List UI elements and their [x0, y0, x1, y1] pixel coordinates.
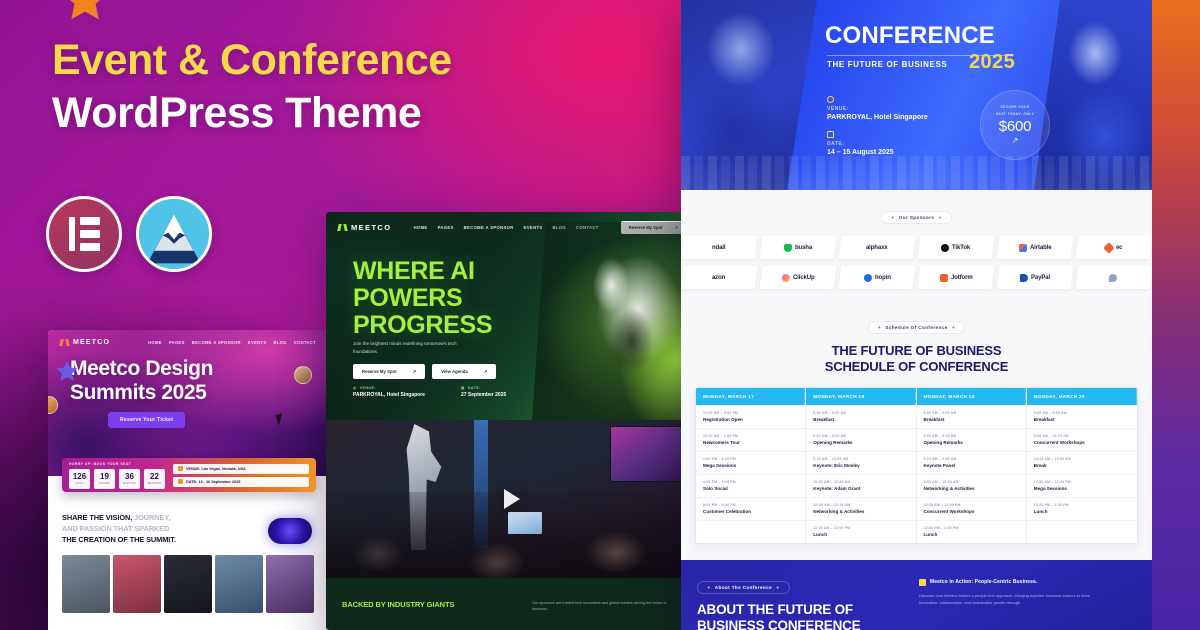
summits-venue-text: VENUE: Las Vegas, Nevada, USA: [186, 467, 246, 471]
about-feature: Meetco in Action: People-Centric Busines…: [919, 579, 1136, 587]
about-right: Meetco in Action: People-Centric Busines…: [919, 576, 1136, 630]
share-dark-2: THE CREATION OF THE SUMMIT.: [62, 535, 176, 544]
ai-headline: WHERE AI POWERS PROGRESS: [353, 258, 492, 339]
gallery-image: [62, 555, 110, 613]
ai-video-block[interactable]: [326, 420, 698, 578]
schedule-title: THE FUTURE OF BUSINESS SCHEDULE OF CONFE…: [681, 343, 1152, 375]
sponsor-logo-icon: [941, 244, 949, 252]
price-badge[interactable]: SECURE YOUR SEAT TODAY, ONLY $600 ↗: [980, 90, 1050, 160]
summits-menu-item-sponsor[interactable]: BECOME A SPONSOR: [192, 340, 241, 345]
ai-hero: MEETCO HOME PAGES BECOME A SPONSOR EVENT…: [326, 212, 698, 420]
summits-star-icon: [54, 359, 80, 385]
schedule-cell[interactable]: 10:30 AM – 1:00 PMNewcomers Tour: [696, 428, 805, 451]
conference-preview-panel[interactable]: CONFERENCE THE FUTURE OF BUSINESS 2025 V…: [681, 0, 1152, 630]
ai-venue-label: ◎VENUE:: [353, 386, 425, 390]
conference-date-value: 14 – 15 August 2025: [827, 149, 928, 156]
schedule-cell[interactable]: 12:00 PM – 1:30 PMLunch: [917, 520, 1026, 543]
elementor-badge: [46, 196, 122, 272]
ai-footer: BACKED BY INDUSTRY GIANTS Our sponsors a…: [326, 578, 698, 630]
schedule-cell-empty: [696, 520, 805, 543]
diamond-icon: ✦: [938, 215, 942, 220]
sponsors-kicker: ✦ Our Sponsors ✦: [881, 211, 952, 224]
sponsor-logo-icon: [784, 244, 792, 252]
play-icon[interactable]: [504, 489, 520, 509]
share-light-2: AND PASSION THAT SPARKED: [62, 524, 169, 533]
schedule-cell[interactable]: 5:00 PM – 8:00 PMCustomer Celebration: [696, 497, 805, 520]
sponsor-card[interactable]: ClickUp: [760, 266, 837, 289]
schedule-section: ✦ Schedule Of Conference ✦ THE FUTURE OF…: [681, 310, 1152, 560]
ai-headline-line-1: WHERE AI: [353, 258, 492, 285]
conference-subtitle: THE FUTURE OF BUSINESS: [827, 60, 947, 69]
about-feature-title: Meetco in Action: People-Centric Busines…: [930, 579, 1037, 585]
ai-logo-text: MEETCO: [351, 223, 391, 232]
summits-date-info: DATE: 14 - 16 September 2025: [173, 477, 309, 487]
countdown-unit: MINUTES: [123, 482, 136, 485]
conference-venue-value: PARKROYAL, Hotel Singapore: [827, 114, 928, 121]
schedule-column: MONDAY, MARCH 19 8:00 AM – 9:00 AMBreakf…: [917, 388, 1027, 543]
location-icon: ◎: [353, 386, 357, 390]
ai-agenda-label: View Agenda: [441, 369, 468, 374]
ai-venue-value: PARKROYAL, Hotel Singapore: [353, 392, 425, 398]
meetco-logo-icon: [60, 338, 69, 347]
sponsor-card[interactable]: [1076, 266, 1152, 289]
summits-navbar[interactable]: MEETCO HOME PAGES BECOME A SPONSOR EVENT…: [48, 330, 328, 355]
ai-cta-group[interactable]: Reserve My Spot ↗ View Agenda ↗: [353, 364, 496, 379]
schedule-column: MONDAY, MARCH 17 12:00 AM – 5:00 PMRegis…: [696, 388, 806, 543]
schedule-cell[interactable]: 9:15 AM – 10:05 AMKeynote: Eric Mosley: [806, 451, 915, 474]
ai-menu-item-home[interactable]: HOME: [414, 225, 428, 230]
conference-title: CONFERENCE: [825, 24, 995, 48]
diamond-icon: ✦: [878, 325, 882, 330]
ai-footer-text: Our sponsors are trusted tech innovators…: [532, 600, 682, 612]
star-icon: [58, 0, 112, 28]
ai-date-value: 27 September 2025: [461, 392, 506, 398]
share-light-1: JOURNEY,: [134, 513, 170, 522]
schedule-cell[interactable]: 9:55 AM – 10:45 AMNetworking & Activitie…: [917, 474, 1026, 497]
sponsor-card[interactable]: Airtable: [997, 236, 1074, 259]
gallery-image: [215, 555, 263, 613]
ai-menu-item-events[interactable]: EVENTS: [524, 225, 543, 230]
right-gradient-strip: [1152, 0, 1200, 630]
countdown-item: 19 HOURS: [94, 469, 115, 489]
schedule-column-header: MONDAY, MARCH 18: [806, 388, 915, 405]
schedule-column: MONDAY, MARCH 20 8:00 AM – 9:00 AMBreakf…: [1027, 388, 1137, 543]
sponsor-card[interactable]: azon: [681, 266, 757, 289]
ai-menu-item-sponsor[interactable]: BECOME A SPONSOR: [464, 225, 514, 230]
schedule-cell[interactable]: 9:00 AM – 9:15 AMOpening Remarks: [917, 428, 1026, 451]
summits-menu-item-blog[interactable]: BLOG: [273, 340, 286, 345]
ai-date-block: ▤DATE: 27 September 2025: [461, 386, 506, 398]
summits-venue-info: VENUE: Las Vegas, Nevada, USA: [173, 464, 309, 474]
schedule-table: MONDAY, MARCH 17 12:00 AM – 5:00 PMRegis…: [695, 387, 1138, 544]
countdown-item: 36 MINUTES: [119, 469, 140, 489]
sponsors-kicker-text: Our Sponsors: [899, 215, 934, 220]
price-label-2: SEAT TODAY, ONLY: [996, 112, 1034, 117]
ai-hero-figure: [532, 222, 698, 420]
stage-screen: [610, 426, 690, 482]
sponsor-logo-icon: [1104, 242, 1115, 253]
sponsor-card[interactable]: busha: [760, 236, 837, 259]
summits-info-list: VENUE: Las Vegas, Nevada, USA DATE: 14 -…: [173, 464, 309, 487]
gallery-image: [266, 555, 314, 613]
sponsor-card[interactable]: Jotform: [918, 266, 995, 289]
sponsors-row: ndall busha alphaxx TikTok Airtable ec: [681, 236, 1152, 259]
sponsor-logo-icon: [1019, 244, 1027, 252]
schedule-title-line-1: THE FUTURE OF BUSINESS: [832, 343, 1002, 358]
schedule-kicker-text: Schedule Of Conference: [885, 325, 947, 330]
schedule-cell[interactable]: 12:00 AM – 5:00 PMRegistration Open: [696, 405, 805, 428]
sponsor-card[interactable]: TikTok: [918, 236, 995, 259]
conference-hero: CONFERENCE THE FUTURE OF BUSINESS 2025 V…: [681, 0, 1152, 190]
price-label-1: SECURE YOUR: [1000, 105, 1029, 110]
promo-canvas: Event & Conference WordPress Theme: [0, 0, 1200, 630]
countdown-list: 126 DAYS 19 HOURS 36 MINUTES 22 SECONDS: [69, 469, 165, 489]
schedule-kicker: ✦ Schedule Of Conference ✦: [868, 321, 966, 334]
arrow-up-right-icon: ↗: [413, 369, 417, 375]
schedule-column-header: MONDAY, MARCH 17: [696, 388, 805, 405]
sponsor-logo-icon: [940, 274, 948, 282]
summits-preview-panel[interactable]: MEETCO HOME PAGES BECOME A SPONSOR EVENT…: [48, 330, 328, 630]
ai-venue-block: ◎VENUE: PARKROYAL, Hotel Singapore: [353, 386, 425, 398]
schedule-cell[interactable]: 4:00 PM – 5:00 PMSolo Social: [696, 474, 805, 497]
conference-year: 2025: [969, 52, 1015, 72]
ai-date-label: ▤DATE:: [461, 386, 506, 390]
diamond-icon: ✦: [952, 325, 956, 330]
ai-headline-line-2: POWERS: [353, 285, 492, 312]
meetco-logo-icon: [338, 223, 347, 232]
sponsor-card[interactable]: alphaxx: [839, 236, 916, 259]
ai-footer-title: BACKED BY INDUSTRY GIANTS: [342, 600, 454, 609]
arrow-up-right-icon: ↗: [484, 369, 488, 375]
about-feature-text: Discover how Meetco fosters a people-fir…: [919, 592, 1109, 606]
schedule-cell[interactable]: 10:50 AM – 11:15 AMNetworking & Activiti…: [806, 497, 915, 520]
schedule-cell[interactable]: 8:00 AM – 9:00 AMBreakfast: [1027, 405, 1137, 428]
summits-gallery: [48, 545, 328, 613]
summits-title-line-1: Meetco Design: [70, 357, 328, 381]
summits-countdown-bar: HURRY UP! BOOK YOUR SEAT 126 DAYS 19 HOU…: [62, 458, 316, 492]
summits-hero: MEETCO HOME PAGES BECOME A SPONSOR EVENT…: [48, 330, 328, 476]
countdown-value: 126: [73, 473, 86, 481]
countdown-unit: DAYS: [76, 482, 84, 485]
schedule-cell-empty: [1027, 520, 1137, 543]
schedule-title-line-2: SCHEDULE OF CONFERENCE: [825, 359, 1008, 374]
summits-logo[interactable]: MEETCO: [60, 338, 110, 347]
ai-preview-panel[interactable]: MEETCO HOME PAGES BECOME A SPONSOR EVENT…: [326, 212, 698, 630]
summits-menu-item-pages[interactable]: PAGES: [169, 340, 185, 345]
schedule-column-header: MONDAY, MARCH 20: [1027, 388, 1137, 405]
schedule-cell[interactable]: 10:15 AM – 10:50 AMBreak: [1027, 451, 1137, 474]
headline-line-2: WordPress Theme: [52, 91, 652, 136]
schedule-cell[interactable]: 11:15 AM – 12:00 PMLunch: [806, 520, 915, 543]
schedule-cell[interactable]: 1:00 PM – 2:00 PMMega Sessions: [696, 451, 805, 474]
ai-meta: ◎VENUE: PARKROYAL, Hotel Singapore ▤DATE…: [353, 386, 506, 398]
schedule-cell[interactable]: 8:00 AM – 9:00 AMBreakfast: [917, 405, 1026, 428]
schedule-cell[interactable]: 9:15 AM – 9:55 AMKeynote Panel: [917, 451, 1026, 474]
ai-reserve-button[interactable]: Reserve My Spot ↗: [353, 364, 425, 379]
countdown-value: 19: [100, 473, 109, 481]
sponsor-logo-icon: [864, 274, 872, 282]
share-dark-1: SHARE THE VISION,: [62, 513, 132, 522]
conference-meta: VENUE: PARKROYAL, Hotel Singapore DATE: …: [827, 96, 928, 166]
laptop: [508, 512, 542, 534]
avatar: [294, 366, 312, 384]
countdown-item: 126 DAYS: [69, 469, 90, 489]
ai-subtitle: Join the brightest minds redefining tomo…: [353, 340, 473, 356]
about-title: ABOUT THE FUTURE OF BUSINESS CONFERENCE: [697, 602, 901, 630]
diamond-icon: ✦: [707, 585, 711, 590]
gallery-image: [164, 555, 212, 613]
summits-menu[interactable]: HOME PAGES BECOME A SPONSOR EVENTS BLOG …: [148, 340, 316, 345]
conference-venue-block: VENUE: PARKROYAL, Hotel Singapore: [827, 96, 928, 121]
about-kicker-text: About The Conference: [715, 585, 772, 590]
summits-menu-item-contact[interactable]: CONTACT: [294, 340, 316, 345]
sponsor-card[interactable]: hopin: [839, 266, 916, 289]
calendar-icon: [178, 479, 183, 484]
countdown-unit: HOURS: [99, 482, 109, 485]
location-icon: [827, 96, 834, 103]
conference-date-block: DATE: 14 – 15 August 2025: [827, 131, 928, 156]
summits-cta-button[interactable]: Reserve Your Ticket: [108, 412, 185, 428]
sponsors-rows: ndall busha alphaxx TikTok Airtable ec a…: [681, 236, 1152, 289]
mountain-badge: [136, 196, 212, 272]
countdown-item: 22 SECONDS: [144, 469, 165, 489]
schedule-cell[interactable]: 10:50 AM – 12:20 PMMega Sessions: [1027, 474, 1137, 497]
cursor-icon: [275, 413, 285, 426]
sponsor-logo-icon: [782, 274, 790, 282]
about-section: ✦ About The Conference ✦ ABOUT THE FUTUR…: [681, 560, 1152, 630]
summits-title-wrap: Meetco Design Summits 2025: [48, 355, 328, 404]
summits-menu-item-home[interactable]: HOME: [148, 340, 162, 345]
about-kicker: ✦ About The Conference ✦: [697, 581, 790, 594]
sponsor-card[interactable]: ndall: [681, 236, 757, 259]
price-value: $600: [999, 118, 1032, 135]
location-icon: [178, 466, 183, 471]
calendar-icon: [827, 131, 834, 138]
plugin-badges: [46, 196, 212, 272]
schedule-cell[interactable]: 8:00 AM – 9:00 AMBreakfast: [806, 405, 915, 428]
diamond-icon: ✦: [891, 215, 895, 220]
countdown-unit: SECONDS: [147, 482, 161, 485]
sponsor-logo-icon: [1109, 274, 1117, 282]
schedule-cell[interactable]: 9:00 AM – 9:15 AMOpening Remarks: [806, 428, 915, 451]
gallery-image: [113, 555, 161, 613]
conference-venue-label: VENUE:: [827, 106, 928, 112]
ai-logo[interactable]: MEETCO: [338, 223, 391, 232]
sponsors-section: ✦ Our Sponsors ✦ ndall busha alphaxx Tik…: [681, 190, 1152, 310]
arrow-up-right-icon: ↗: [1012, 137, 1019, 145]
summits-date-text: DATE: 14 - 16 September 2025: [186, 480, 240, 484]
countdown-label: HURRY UP! BOOK YOUR SEAT: [69, 462, 165, 466]
calendar-icon: ▤: [461, 386, 465, 390]
decorative-orb: [268, 518, 312, 544]
sponsor-card[interactable]: PayPal: [997, 266, 1074, 289]
about-left: ✦ About The Conference ✦ ABOUT THE FUTUR…: [697, 576, 901, 630]
schedule-column-header: MONDAY, MARCH 19: [917, 388, 1026, 405]
schedule-cell[interactable]: 10:45 AM – 12:00 PMConcurrent Workshops: [917, 497, 1026, 520]
diamond-icon: ✦: [776, 585, 780, 590]
schedule-cell[interactable]: 10:05 AM – 10:50 AMKeynote: Adam Grant: [806, 474, 915, 497]
schedule-column: MONDAY, MARCH 18 8:00 AM – 9:00 AMBreakf…: [806, 388, 916, 543]
summits-menu-item-events[interactable]: EVENTS: [248, 340, 267, 345]
sponsors-row: azon ClickUp hopin Jotform PayPal: [681, 266, 1152, 289]
ai-headline-line-3: PROGRESS: [353, 312, 492, 339]
schedule-cell[interactable]: 9:00 AM – 10:15 AMConcurrent Workshops: [1027, 428, 1137, 451]
ai-agenda-button[interactable]: View Agenda ↗: [432, 364, 496, 379]
summits-title-line-2: Summits 2025: [70, 381, 328, 405]
countdown-value: 36: [125, 473, 134, 481]
promo-headline: Event & Conference WordPress Theme: [52, 38, 652, 135]
conference-date-label: DATE:: [827, 141, 928, 147]
countdown-value: 22: [150, 473, 159, 481]
sponsor-card[interactable]: ec: [1076, 236, 1152, 259]
schedule-cell[interactable]: 12:20 PM – 1:30 PMLunch: [1027, 497, 1137, 520]
headline-line-1: Event & Conference: [52, 38, 652, 83]
sponsor-logo-icon: [1020, 274, 1028, 282]
note-icon: [919, 579, 926, 586]
ai-menu-item-pages[interactable]: PAGES: [438, 225, 454, 230]
summits-logo-text: MEETCO: [73, 339, 110, 346]
about-title-line-1: ABOUT THE FUTURE OF: [697, 602, 901, 618]
about-title-line-2: BUSINESS CONFERENCE: [697, 618, 901, 630]
ai-reserve-label: Reserve My Spot: [362, 369, 397, 374]
